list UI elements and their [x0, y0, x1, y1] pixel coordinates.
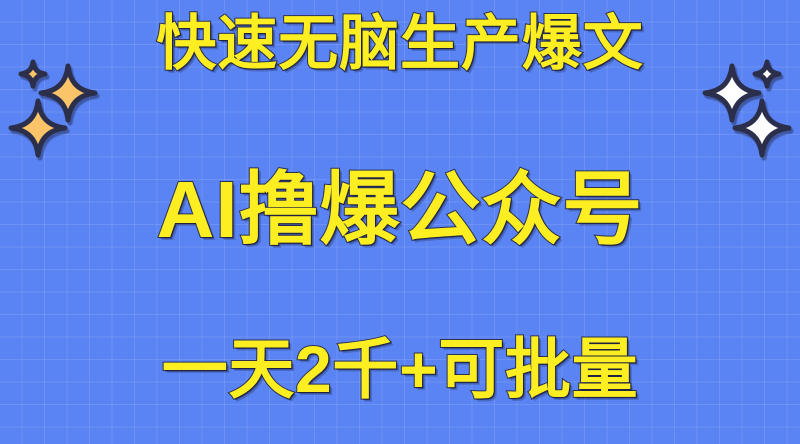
promo-banner: 快速无脑生产爆文 AI撸爆公众号 一天2千+可批量: [0, 0, 800, 444]
headline-line-3: 一天2千+可批量: [0, 336, 800, 402]
headline-line-1: 快速无脑生产爆文: [0, 14, 800, 74]
sparkle-large-icon: [732, 98, 792, 158]
sparkle-large-icon: [8, 98, 68, 158]
headline-line-2: AI撸爆公众号: [0, 170, 800, 250]
